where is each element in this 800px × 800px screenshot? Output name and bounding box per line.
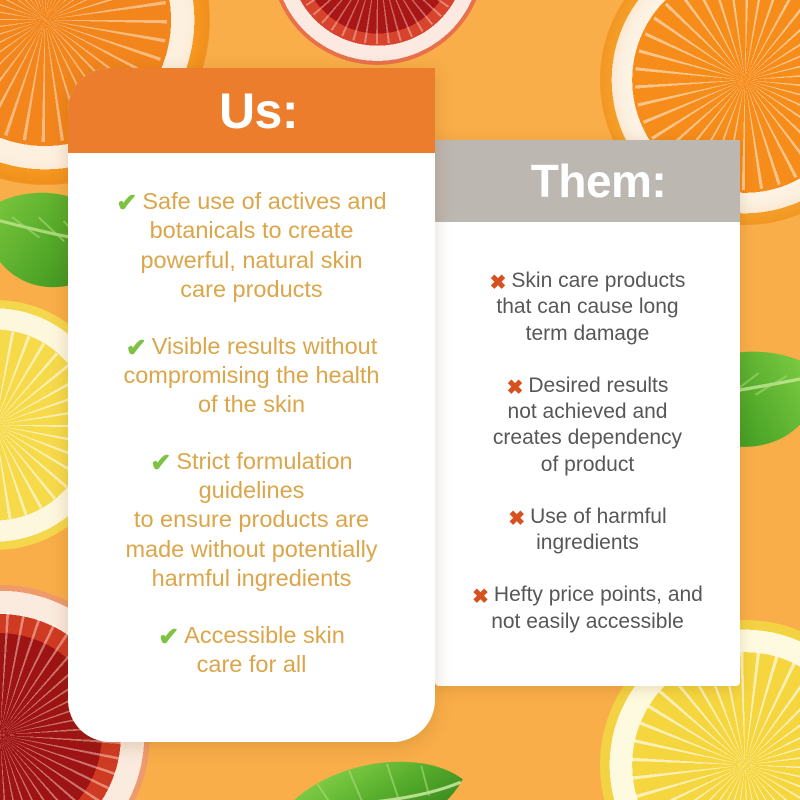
x-icon: ✖ <box>507 378 524 398</box>
list-item: ✖Desired results not achieved and create… <box>453 373 722 478</box>
check-icon: ✔ <box>116 191 137 216</box>
list-item-text: Visible results without compromising the… <box>123 333 379 418</box>
card-body-us: ✔Safe use of actives and botanicals to c… <box>68 153 435 689</box>
card-title-us: Us: <box>205 86 298 136</box>
card-body-them: ✖Skin care products that can cause long … <box>435 222 740 645</box>
x-icon: ✖ <box>490 273 507 293</box>
list-item-text: Accessible skin care for all <box>184 622 345 677</box>
list-item-text: Use of harmful ingredients <box>530 505 667 554</box>
x-icon: ✖ <box>472 587 489 607</box>
infographic-canvas: Them: ✖Skin care products that can cause… <box>0 0 800 800</box>
card-header-us: Us: <box>68 68 435 153</box>
list-item: ✖Skin care products that can cause long … <box>453 268 722 347</box>
x-icon: ✖ <box>508 509 525 529</box>
list-item: ✔Accessible skin care for all <box>90 621 413 680</box>
list-item: ✔Visible results without compromising th… <box>90 332 413 420</box>
comparison-card-us: Us: ✔Safe use of actives and botanicals … <box>68 68 435 742</box>
list-item-text: Skin care products that can cause long t… <box>496 269 685 345</box>
list-item-text: Hefty price points, and not easily acces… <box>491 583 703 632</box>
card-title-them: Them: <box>509 158 667 204</box>
comparison-card-them: Them: ✖Skin care products that can cause… <box>435 140 740 686</box>
check-icon: ✔ <box>126 336 147 361</box>
list-item-text: Safe use of actives and botanicals to cr… <box>140 188 386 302</box>
list-item: ✖Hefty price points, and not easily acce… <box>453 582 722 635</box>
blood-orange-slice-icon <box>270 0 485 65</box>
check-icon: ✔ <box>158 625 179 650</box>
list-item: ✖Use of harmful ingredients <box>453 504 722 557</box>
card-header-them: Them: <box>435 140 740 222</box>
list-item: ✔Safe use of actives and botanicals to c… <box>90 187 413 305</box>
list-item: ✔Strict formulation guidelines to ensure… <box>90 447 413 594</box>
check-icon: ✔ <box>150 451 171 476</box>
